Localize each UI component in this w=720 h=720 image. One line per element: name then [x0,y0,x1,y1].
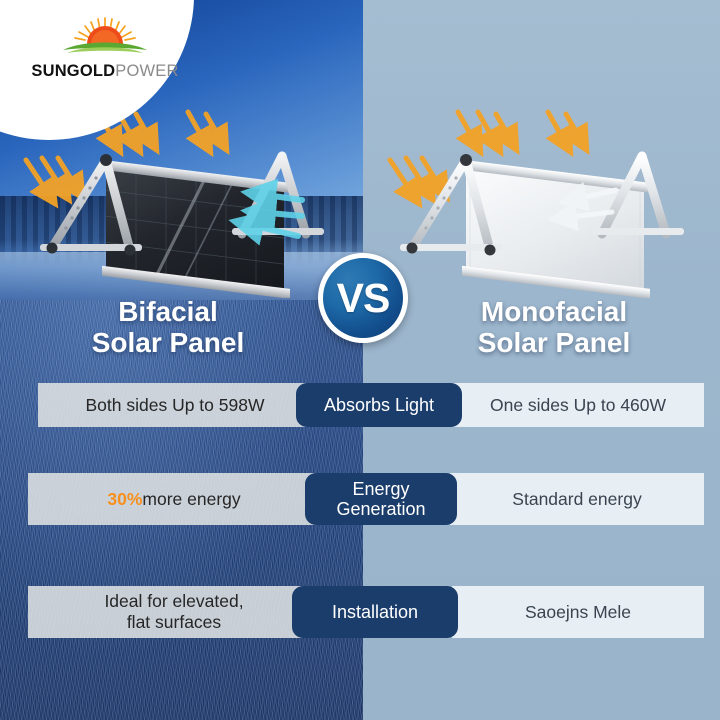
row-left-value: Ideal for elevated, flat surfaces [28,586,320,638]
comparison-row: Both sides Up to 598W Absorbs Light One … [0,383,720,427]
row-left-value: Both sides Up to 598W [38,383,312,427]
monofacial-panel-illustration [366,108,718,298]
brand-name-bold: SUNGOLD [31,62,115,80]
sun-rays-hill-logo-icon [57,16,153,60]
row-right-value: Saoejns Mele [452,586,704,638]
right-title: Monofacial Solar Panel [404,296,704,359]
row-feature-label: Absorbs Light [296,383,462,427]
energy-rest-text: more energy [142,489,240,510]
row-left-value: 30% more energy [28,473,320,525]
row-right-value: Standard energy [450,473,704,525]
brand-name-light: POWER [115,62,178,80]
vs-badge: VS [318,253,408,343]
energy-accent-value: 30% [107,489,142,510]
row-feature-label: Energy Generation [305,473,457,525]
brand-wordmark: SUNGOLDPOWER [31,62,178,81]
comparison-row: Ideal for elevated, flat surfaces Instal… [0,586,720,638]
brand-logo: SUNGOLDPOWER [10,8,200,88]
left-title: Bifacial Solar Panel [18,296,318,359]
row-right-value: One sides Up to 460W [452,383,704,427]
row-feature-label: Installation [292,586,458,638]
comparison-row: 30% more energy Energy Generation Standa… [0,473,720,525]
infographic-canvas: SUNGOLDPOWER Bifacial Solar Panel Monofa… [0,0,720,720]
vs-badge-label: VS [337,278,390,319]
